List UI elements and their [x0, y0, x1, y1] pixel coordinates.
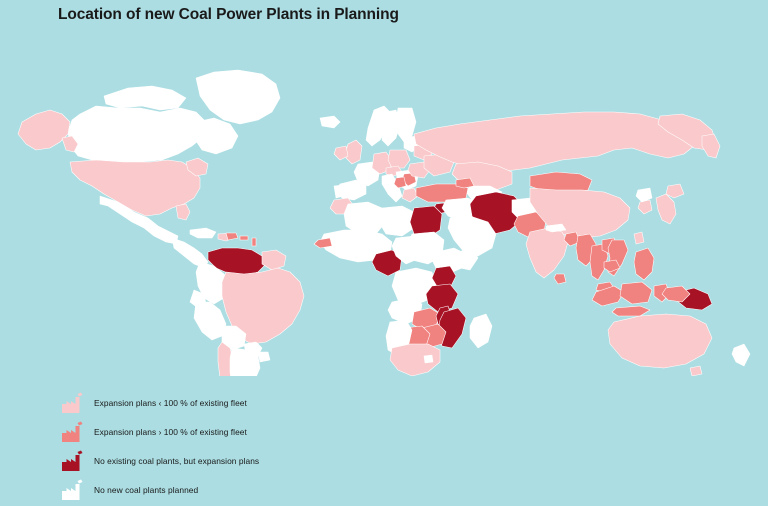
country-indonesia-borneo[interactable]: [620, 282, 652, 304]
legend-item-no-new-plants[interactable]: No new coal plants planned: [60, 475, 480, 504]
country-japan-north[interactable]: [666, 184, 684, 198]
country-australia[interactable]: [608, 314, 712, 368]
country-russia[interactable]: [414, 112, 694, 172]
country-alaska[interactable]: [18, 110, 70, 150]
country-dominican-republic[interactable]: [226, 233, 238, 240]
country-south-korea[interactable]: [638, 200, 652, 214]
country-senegal[interactable]: [314, 238, 332, 248]
country-puerto-rico[interactable]: [240, 236, 248, 240]
coal-power-plant-icon: [60, 479, 86, 501]
country-japan[interactable]: [656, 194, 676, 224]
country-lesser-antilles[interactable]: [252, 238, 256, 246]
country-canada-east[interactable]: [194, 118, 238, 154]
country-poland[interactable]: [388, 150, 410, 168]
country-kamchatka[interactable]: [702, 134, 720, 158]
world-choropleth-map: [0, 36, 768, 376]
legend-label: Expansion plans › 100 % of existing flee…: [94, 427, 247, 437]
country-iceland[interactable]: [320, 116, 340, 128]
country-philippines[interactable]: [634, 248, 654, 280]
country-peru[interactable]: [194, 302, 226, 340]
country-us-florida[interactable]: [176, 204, 190, 220]
legend-label: Expansion plans ‹ 100 % of existing flee…: [94, 398, 247, 408]
legend-item-no-existing-but-plans[interactable]: No existing coal plants, but expansion p…: [60, 446, 480, 475]
country-greenland[interactable]: [196, 70, 280, 124]
world-map-container: [0, 36, 768, 376]
coal-power-plant-icon: [60, 421, 86, 443]
country-libya[interactable]: [380, 206, 414, 236]
legend-item-expansion-over-100[interactable]: Expansion plans › 100 % of existing flee…: [60, 417, 480, 446]
country-tasmania[interactable]: [690, 366, 702, 376]
country-lesotho[interactable]: [424, 355, 433, 363]
legend-label: No existing coal plants, but expansion p…: [94, 456, 259, 466]
country-indonesia-java[interactable]: [612, 306, 650, 316]
country-united-kingdom[interactable]: [346, 140, 362, 164]
country-algeria[interactable]: [344, 202, 384, 234]
country-india[interactable]: [526, 228, 568, 278]
page-title: Location of new Coal Power Plants in Pla…: [58, 6, 399, 24]
legend-label: No new coal plants planned: [94, 485, 198, 495]
country-canada-arctic[interactable]: [104, 86, 186, 110]
country-taiwan[interactable]: [634, 232, 644, 244]
country-new-zealand[interactable]: [732, 344, 750, 366]
country-madagascar[interactable]: [470, 314, 492, 348]
coal-power-plant-icon: [60, 450, 86, 472]
country-cuba[interactable]: [190, 228, 216, 238]
map-legend: Expansion plans ‹ 100 % of existing flee…: [60, 388, 480, 504]
country-uruguay[interactable]: [258, 352, 270, 362]
country-guyana-suriname[interactable]: [262, 250, 286, 270]
country-canada[interactable]: [68, 106, 206, 162]
infographic-page: Location of new Coal Power Plants in Pla…: [0, 0, 768, 506]
country-portugal[interactable]: [334, 185, 344, 198]
coal-power-plant-icon: [60, 392, 86, 414]
legend-item-expansion-under-100[interactable]: Expansion plans ‹ 100 % of existing flee…: [60, 388, 480, 417]
country-greece[interactable]: [402, 188, 418, 202]
country-sri-lanka[interactable]: [554, 274, 566, 284]
